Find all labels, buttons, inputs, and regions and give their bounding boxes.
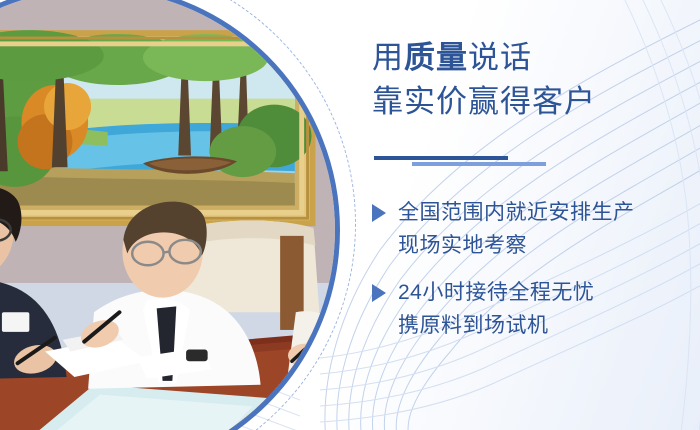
- headline-suffix: 说话: [468, 40, 532, 75]
- divider-primary: [374, 156, 508, 160]
- feature-title: 24小时接待全程无忧: [398, 276, 594, 309]
- feature-subtitle: 现场实地考察: [398, 229, 692, 262]
- feature-subtitle: 携原料到场试机: [398, 309, 692, 342]
- list-item: 24小时接待全程无忧 携原料到场试机: [372, 276, 692, 342]
- divider-secondary: [412, 162, 546, 166]
- feature-list: 全国范围内就近安排生产 现场实地考察 24小时接待全程无忧 携原料到场试机: [372, 196, 692, 356]
- triangle-right-icon: [372, 204, 386, 222]
- feature-title: 全国范围内就近安排生产: [398, 196, 635, 229]
- headline-prefix: 用: [372, 40, 404, 75]
- triangle-right-icon: [372, 284, 386, 302]
- headline-line-1: 用质量说话: [372, 36, 532, 80]
- promo-banner: 用质量说话 靠实价赢得客户 全国范围内就近安排生产 现场实地考察 24小时接待全…: [0, 0, 700, 430]
- headline-emphasis: 质量: [404, 40, 468, 75]
- list-item: 全国范围内就近安排生产 现场实地考察: [372, 196, 692, 262]
- headline-line-2: 靠实价赢得客户: [372, 80, 596, 124]
- content-column: 用质量说话 靠实价赢得客户 全国范围内就近安排生产 现场实地考察 24小时接待全…: [372, 0, 692, 430]
